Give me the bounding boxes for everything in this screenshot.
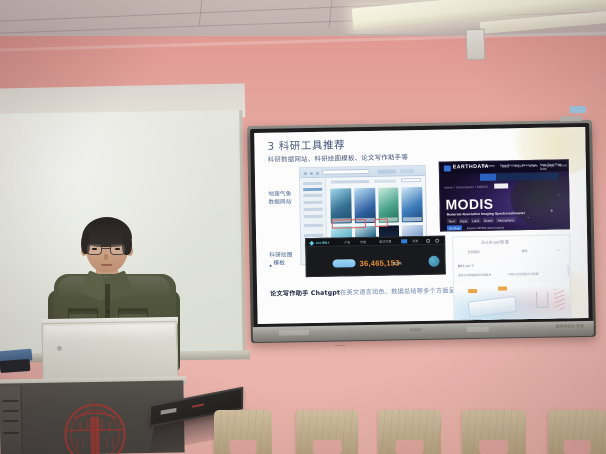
thumbnail-item	[354, 188, 375, 223]
display-top-tab	[560, 116, 582, 121]
display-power-led	[570, 106, 586, 113]
sidebar-item	[304, 215, 323, 218]
tool-nav-products: 产品	[344, 241, 350, 245]
lectern-vent	[3, 400, 19, 402]
smart-display[interactable]: 3 科研工具推荐 科研数据网站、科研绘图模板、论文写作助手等 地理气象数据网站 …	[247, 120, 596, 343]
browser-search-input	[401, 178, 421, 182]
display-control-hint: 触摸屏控制 电源	[556, 324, 584, 330]
thumbnail-item	[401, 187, 422, 222]
desk-object-dark	[0, 359, 30, 373]
tool-counter-suffix: 篇文献	[393, 261, 402, 265]
tool-account-icon	[435, 239, 439, 243]
display-screen[interactable]: 3 科研工具推荐 科研数据网站、科研绘图模板、论文写作助手等 地理气象数据网站 …	[254, 127, 588, 324]
screenshot-writing-tool: scribbr 产品 价格 解决方案 资源 36,465,153 篇文献	[305, 236, 446, 278]
flask-icon	[536, 292, 548, 308]
thumbnail-item	[378, 187, 399, 222]
earthdata-tag: Aqua	[459, 218, 469, 223]
panel-illustration: 点击下载 免费使用	[454, 281, 571, 324]
display-bezel: 3 科研工具推荐 科研数据网站、科研绘图模板、论文写作助手等 地理气象数据网站 …	[250, 123, 593, 328]
jacket-button	[106, 310, 109, 313]
sidebar-item	[303, 182, 322, 185]
panel-filter-more: +	[557, 247, 559, 252]
browser-breadcrumb	[331, 180, 369, 184]
presentation-slide: 3 科研工具推荐 科研数据网站、科研绘图模板、论文写作助手等 地理气象数据网站 …	[254, 127, 588, 324]
browser-reload-icon	[316, 171, 319, 174]
panel-filter-row: 全部类别 排序 +	[465, 247, 561, 256]
illustration-tag	[498, 286, 507, 290]
panel-figure-templates: Scidraw信息 全部类别 排序 + 素材 581 个 适用于科研绘图的矢量素…	[452, 234, 572, 324]
panel-count-label: 素材 581 个	[458, 263, 475, 268]
chair-backrest	[548, 410, 606, 454]
panel-note-left: 适用于科研绘图的矢量素材	[458, 273, 492, 278]
earthdata-tag: Ocean	[482, 218, 494, 223]
sidebar-item	[303, 201, 322, 204]
earthdata-hero-title: MODIS	[445, 197, 493, 212]
display-port-right	[467, 327, 489, 332]
lectern-vent	[3, 410, 19, 412]
panel-scrollbar	[568, 265, 569, 275]
highlight-box	[375, 219, 388, 227]
slide-title: 3 科研工具推荐	[267, 137, 345, 153]
sidebar-item	[304, 208, 323, 211]
tool-nav-resources: 资源	[412, 239, 418, 243]
panel-filter-sort: 排序	[521, 248, 527, 253]
dna-icon	[554, 289, 564, 309]
slide-bottom-lead: 论文写作助手 Chatgpt	[270, 290, 340, 298]
lectern-mark	[57, 346, 62, 351]
earthdata-cta-button: Get Data	[447, 225, 462, 230]
illustration-device	[468, 296, 518, 318]
chair-handle-cutout	[313, 440, 342, 454]
imagery-speck	[551, 210, 553, 212]
chair-backrest	[296, 410, 358, 454]
thumbnail-item	[330, 188, 351, 223]
lectern-top-panel	[41, 321, 178, 385]
browser-breadcrumb	[374, 179, 396, 182]
chair-handle-cutout	[230, 440, 257, 454]
presenter-nose	[104, 254, 108, 260]
chair-backrest	[462, 410, 526, 454]
eyeglasses-bridge	[102, 248, 110, 249]
slide-bullet-dot	[270, 265, 272, 267]
illustration-tag	[468, 289, 477, 293]
earthdata-logo-icon	[444, 165, 451, 171]
tool-nav-chip	[401, 239, 407, 243]
earthdata-breadcrumb: Home / Instruments / MODIS	[444, 185, 488, 190]
sidebar-item	[304, 234, 323, 237]
chair-backrest	[214, 410, 272, 454]
wall-speaker-icon	[465, 29, 485, 61]
chair-handle-cutout	[479, 440, 508, 454]
tool-search-icon	[426, 239, 430, 243]
display-port-left	[279, 330, 309, 336]
browser-tab	[400, 169, 414, 174]
earthdata-tag: Atmosphere	[496, 217, 515, 222]
panel-note-right: 可用于论文配图与示意图	[508, 272, 539, 277]
slide-label-figure-template: 科研绘图 模板	[269, 251, 303, 268]
tool-nav-pricing: 价格	[360, 240, 366, 244]
wall-scuff	[335, 345, 345, 346]
earthdata-subnav-resources: Resources	[522, 162, 537, 166]
earthdata-cta-note: Explore MODIS data products	[467, 225, 504, 230]
browser-back-icon	[304, 172, 307, 175]
display-brand-label: SONY	[410, 327, 423, 332]
panel-heading: Scidraw信息	[481, 239, 509, 246]
globe-icon	[428, 256, 439, 267]
highlight-box	[332, 219, 366, 229]
slide-subtitle: 科研数据网站、科研绘图模板、论文写作助手等	[268, 152, 409, 164]
lectern-side-column	[0, 386, 23, 454]
thumbnail-caption	[403, 217, 422, 221]
sidebar-item-active	[303, 188, 322, 191]
sidebar-item	[304, 224, 323, 227]
slide-label-geo-data: 地理气象数据网站	[268, 190, 302, 207]
sidebar-item	[303, 194, 322, 197]
chair-handle-cutout	[564, 440, 591, 454]
chair-backrest	[378, 410, 441, 454]
classroom-photo-scene: 3 科研工具推荐 科研数据网站、科研绘图模板、论文写作助手等 地理气象数据网站 …	[0, 0, 606, 454]
screenshot-earthdata-modis: EARTHDATA Data Tools Learn Engage About …	[439, 159, 570, 231]
earthdata-subnav-nrt: Near Real-Time Data	[540, 162, 568, 171]
earthdata-tag: Land	[471, 218, 481, 223]
earthdata-badge	[494, 183, 508, 188]
earthdata-subnav-overview: Overview	[482, 163, 495, 167]
earthdata-subnav-products: Data Products	[500, 163, 520, 167]
illustration-footnote: 点击下载 免费使用	[461, 318, 483, 322]
presenter-mouth	[101, 264, 112, 266]
tool-logo-text: scribbr	[316, 240, 330, 244]
earthdata-subnav-active	[480, 174, 496, 181]
panel-filter-category: 全部类别	[467, 249, 479, 254]
browser-tab	[378, 169, 396, 174]
lectern-highlight	[45, 324, 175, 342]
lectern-vent	[3, 432, 19, 434]
tool-nav-solutions: 解决方案	[379, 240, 391, 244]
browser-forward-icon	[310, 171, 313, 174]
earthdata-tag: Terra	[447, 218, 457, 223]
tool-primary-button	[333, 259, 356, 267]
university-seal-emblem	[57, 395, 132, 454]
lectern-vent	[3, 420, 19, 422]
chair-handle-cutout	[395, 440, 424, 454]
